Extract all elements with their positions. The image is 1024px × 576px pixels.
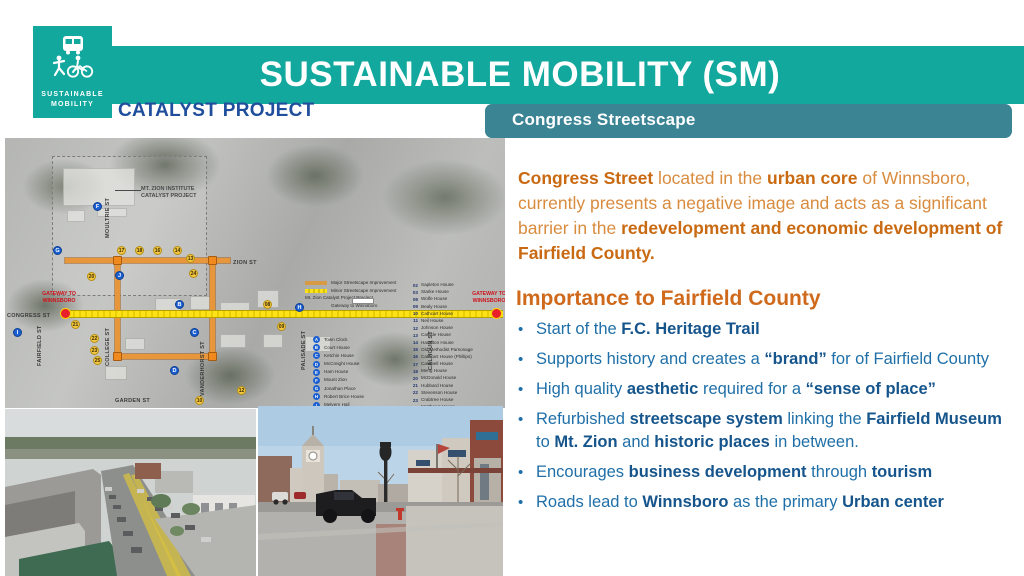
map-marker-num: 23 [90, 346, 99, 355]
legend-numbered-item: 17Caldwell House [409, 361, 473, 367]
legend-item-label: Ketchin House [324, 353, 354, 359]
map-marker-num: 20 [87, 272, 96, 281]
map-marker-num: 08 [263, 300, 272, 309]
legend-key-row: Mt. Zion Catalyst Project Precinct [305, 295, 505, 301]
legend-badge: D [313, 361, 320, 368]
bullet-text: Refurbished streetscape system linking t… [536, 408, 1018, 454]
bullet-dot-icon: • [518, 378, 536, 401]
legend-number: 16 [409, 354, 418, 359]
bullet-dot-icon: • [518, 348, 536, 371]
legend-item-label: Bealy House [421, 304, 447, 310]
gateway-marker-west [60, 308, 71, 319]
street-label-moultrie: MOULTRIE ST [105, 198, 111, 238]
bullet-text: High quality aesthetic required for a “s… [536, 378, 1018, 401]
legend-item-label: Stevenson House [421, 390, 457, 396]
bullet-item: •Start of the F.C. Heritage Trail [518, 318, 1018, 341]
bullet-item: •Encourages business development through… [518, 461, 1018, 484]
legend-item-label: Hubbard House [421, 383, 453, 389]
legend-badge: G [313, 385, 320, 392]
legend-badge: F [313, 377, 320, 384]
map-marker-j: J [115, 271, 124, 280]
map-legend: Major Streetscape ImprovementMinor Stree… [305, 280, 505, 408]
catalyst-precinct-boundary [52, 156, 207, 296]
bullet-item: •Supports history and creates a “brand” … [518, 348, 1018, 371]
legend-number: 12 [409, 326, 418, 331]
legend-item-label: Mount Zion [324, 377, 347, 383]
bullet-item: •Refurbished streetscape system linking … [518, 408, 1018, 454]
legend-item-label: Ham House [324, 369, 348, 375]
corridor-major-zion [65, 258, 230, 263]
legend-key-label: Major Streetscape Improvement [331, 280, 396, 286]
map-marker-num: 13 [186, 254, 195, 263]
legend-swatch-minor-icon [305, 289, 327, 293]
sustainable-mobility-logo: SUSTAINABLE MOBILITY [33, 26, 112, 118]
map-marker-num: 12 [237, 386, 246, 395]
legend-numbered-item: 16Cathcart House (Phillips) [409, 354, 473, 360]
legend-item-label: Neil House [421, 318, 443, 324]
bullet-item: •High quality aesthetic required for a “… [518, 378, 1018, 401]
map-marker-h: H [295, 303, 304, 312]
map-marker-c: C [190, 328, 199, 337]
legend-number: 13 [409, 333, 418, 338]
legend-key-list: Major Streetscape ImprovementMinor Stree… [305, 280, 505, 309]
legend-numbered-item: 03Starke House [409, 289, 473, 295]
legend-numbered-item: 08Wolfe House [409, 296, 473, 302]
importance-bullet-list: •Start of the F.C. Heritage Trail•Suppor… [518, 318, 1018, 521]
legend-item-label: Cathcart House [421, 311, 453, 317]
intro-paragraph: Congress Street located in the urban cor… [518, 166, 1010, 266]
legend-item-label: Cathcart House (Phillips) [421, 354, 472, 360]
legend-numbered-list: 02Sapleton House03Starke House08Wolfe Ho… [409, 282, 473, 408]
street-label-zion: ZION ST [233, 260, 257, 266]
legend-item-label: Court House [324, 345, 350, 351]
legend-item-label: Starke House [421, 289, 449, 295]
legend-numbered-item: 15Old Methodist Parsonage [409, 347, 473, 353]
subtitle-label: Congress Streetscape [512, 110, 696, 130]
legend-badge: C [313, 352, 320, 359]
legend-item-label: Old Methodist Parsonage [421, 347, 473, 353]
bullet-dot-icon: • [518, 408, 536, 454]
legend-numbered-item: 02Sapleton House [409, 282, 473, 288]
legend-number: 15 [409, 347, 418, 352]
map-marker-num: 21 [71, 320, 80, 329]
street-label-garden: GARDEN ST [115, 398, 150, 404]
logo-line-1: SUSTAINABLE [41, 91, 103, 98]
legend-badge: A [313, 336, 320, 343]
gateway-label-west: GATEWAY TO WINNSBORO [27, 291, 91, 304]
legend-lettered-list: ATown ClockBCourt HouseCKetchin HouseDMc… [313, 336, 364, 408]
street-label-vanderhorst: VANDERHORST ST [200, 341, 206, 396]
legend-swatch-gateway-icon [305, 304, 327, 308]
section-heading: Importance to Fairfield County [516, 287, 821, 311]
legend-numbered-item: 11Neil House [409, 318, 473, 324]
legend-numbered-item: 23Crabtree House [409, 397, 473, 403]
legend-badge: E [313, 369, 320, 376]
legend-number: 21 [409, 383, 418, 388]
catalyst-project-label: CATALYST PROJECT [118, 100, 315, 122]
map-node [208, 256, 217, 265]
legend-number: 09 [409, 304, 418, 309]
slide-root: SUSTAINABLE MOBILITY (SM) SUSTAINABLE MO… [0, 0, 1024, 576]
map-marker-num: 10 [195, 396, 204, 405]
map-marker-num: 14 [173, 246, 182, 255]
legend-item-label: Johnson House [421, 325, 453, 331]
precinct-leader-line [115, 190, 141, 191]
map-marker-i: I [13, 328, 22, 337]
corridor-major-vanderhorst [210, 258, 215, 358]
legend-swatch-precinct-icon [352, 298, 374, 304]
legend-number: 20 [409, 376, 418, 381]
map-marker-f: F [93, 202, 102, 211]
legend-badge: B [313, 344, 320, 351]
map-marker-num: 09 [277, 322, 286, 331]
legend-number: 11 [409, 318, 418, 323]
bullet-dot-icon: • [518, 461, 536, 484]
legend-item-label: McDonald House [421, 375, 456, 381]
legend-item-label: Sapleton House [421, 282, 454, 288]
map-marker-num: 18 [135, 246, 144, 255]
legend-lettered-item: BCourt House [313, 344, 364, 351]
legend-item-label: Carlisle House [421, 332, 451, 338]
legend-numbered-item: 21Hubbard House [409, 383, 473, 389]
legend-lettered-item: HRobert Brice House [313, 393, 364, 400]
legend-number: 22 [409, 390, 418, 395]
bullet-text: Start of the F.C. Heritage Trail [536, 318, 1018, 341]
legend-numbered-item: 20McDonald House [409, 375, 473, 381]
legend-key-row: Major Streetscape Improvement [305, 280, 505, 286]
map-node [113, 352, 122, 361]
legend-numbered-item: 22Stevenson House [409, 390, 473, 396]
legend-item-label: Meng House [421, 368, 447, 374]
map-marker-num: 25 [93, 356, 102, 365]
legend-numbered-item: 14Hamilton House [409, 340, 473, 346]
legend-item-label: Wolfe House [421, 296, 447, 302]
legend-number: 08 [409, 297, 418, 302]
legend-item-label: Caldwell House [421, 361, 453, 367]
bullet-text: Encourages business development through … [536, 461, 1018, 484]
legend-number: 14 [409, 340, 418, 345]
map-block [125, 338, 145, 350]
legend-number: 17 [409, 362, 418, 367]
map-marker-num: 24 [189, 269, 198, 278]
map-marker-num: 16 [153, 246, 162, 255]
map-block [263, 334, 283, 348]
legend-lettered-item: DMcCreight House [313, 361, 364, 368]
street-label-college: COLLEGE ST [105, 328, 111, 366]
map-node [208, 352, 217, 361]
map-block [190, 296, 212, 310]
legend-item-label: Town Clock [324, 337, 348, 343]
aerial-main-street-photo [5, 409, 256, 576]
legend-item-label: McCreight House [324, 361, 360, 367]
legend-key-label: Minor Streetscape Improvement [331, 288, 396, 294]
map-block [105, 366, 127, 380]
legend-numbered-item: 18Meng House [409, 368, 473, 374]
legend-number: 23 [409, 398, 418, 403]
legend-numbered-item: 13Carlisle House [409, 332, 473, 338]
map-node [113, 256, 122, 265]
legend-number: 10 [409, 311, 418, 316]
legend-number: 18 [409, 369, 418, 374]
bullet-text: Roads lead to Winnsboro as the primary U… [536, 491, 1018, 514]
bullet-dot-icon: • [518, 318, 536, 341]
legend-swatch-major-icon [305, 281, 327, 285]
map-marker-b: B [175, 300, 184, 309]
legend-key-row: Minor Streetscape Improvement [305, 288, 505, 294]
legend-number: 03 [409, 290, 418, 295]
legend-lettered-item: FMount Zion [313, 377, 364, 384]
bullet-item: •Roads lead to Winnsboro as the primary … [518, 491, 1018, 514]
legend-lettered-item: ATown Clock [313, 336, 364, 343]
legend-number: 02 [409, 283, 418, 288]
bus-pedestrian-bicycle-icon [47, 34, 99, 78]
street-label-fairfield: FAIRFIELD ST [37, 325, 43, 366]
legend-item-label: Jonathan Place [324, 386, 356, 392]
precinct-label: MT. ZION INSTITUTE CATALYST PROJECT [141, 186, 197, 200]
bullet-text: Supports history and creates a “brand” f… [536, 348, 1018, 371]
page-title: SUSTAINABLE MOBILITY (SM) [170, 50, 870, 100]
bullet-dot-icon: • [518, 491, 536, 514]
logo-line-2: MOBILITY [51, 101, 94, 108]
legend-lettered-item: CKetchin House [313, 352, 364, 359]
site-plan-map: MT. ZION INSTITUTE CATALYST PROJECT GATE… [5, 138, 505, 408]
street-label-congress: CONGRESS ST [7, 313, 50, 319]
map-marker-num: 17 [117, 246, 126, 255]
legend-lettered-item: EHam House [313, 369, 364, 376]
street-level-photo [258, 406, 503, 576]
logo-text: SUSTAINABLE MOBILITY [41, 90, 103, 110]
legend-numbered-item: 12Johnson House [409, 325, 473, 331]
legend-item-label: Robert Brice House [324, 394, 364, 400]
legend-numbered-item: 10Cathcart House [409, 311, 473, 317]
map-marker-d: D [170, 366, 179, 375]
legend-numbered-item: 09Bealy House [409, 304, 473, 310]
map-marker-num: 22 [90, 334, 99, 343]
map-marker-g: G [53, 246, 62, 255]
legend-key-row: Gateway to Winnsboro [305, 303, 505, 309]
legend-lettered-item: GJonathan Place [313, 385, 364, 392]
legend-item-label: Crabtree House [421, 397, 453, 403]
legend-item-label: Hamilton House [421, 340, 454, 346]
legend-badge: H [313, 393, 320, 400]
map-block [220, 334, 246, 348]
